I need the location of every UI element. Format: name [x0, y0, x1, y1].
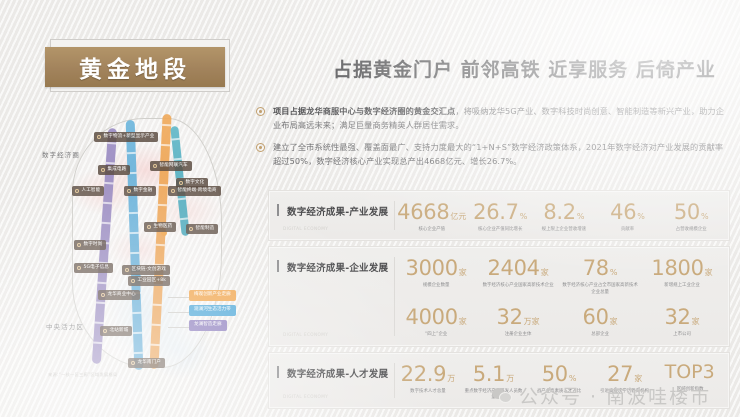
map-tag[interactable]: 5G电子信息 — [74, 263, 113, 273]
stat-unit: 家 — [692, 317, 700, 326]
stat-unit: % — [520, 212, 528, 221]
stat-caption: 新增规上工业企业 — [664, 283, 700, 289]
stat-item: 1800家 新增规上工业企业 — [641, 255, 723, 289]
map-chip-corridor-2[interactable]: 观澜河生态活力带 — [189, 305, 236, 316]
stat-caption: 规上限上企业营收增速 — [542, 227, 586, 233]
chip-leader-line — [168, 297, 190, 298]
map-tag[interactable]: 龙华南门户 — [128, 358, 165, 368]
stat-item: 8.2% 规上限上企业营收增速 — [532, 199, 596, 233]
map-tag-label: 数字文化 — [186, 181, 205, 186]
stat-unit: 家 — [459, 268, 467, 277]
panel-title: 数字经济成果-产业发展 — [281, 204, 388, 218]
stat-unit: 万 — [447, 374, 455, 383]
panel-title: 数字经济成果-人才发展 — [281, 366, 388, 380]
map-tag-label: 龙华商业中心 — [108, 293, 136, 298]
map-tag-dot-icon — [101, 168, 105, 172]
chip-leader-line — [168, 327, 190, 328]
stat-unit: % — [610, 268, 618, 277]
stat-value: 2404家 — [487, 257, 548, 279]
stat-item: 26.7% 核心企业产值同比增长 — [468, 199, 532, 233]
stat-caption: 注册企业主体 — [505, 332, 532, 338]
map-tag[interactable]: 数字物流+新型显示产业 — [94, 132, 158, 142]
stat-value: 22.9万 — [401, 363, 456, 385]
map-tag-label: 人工智能 — [82, 189, 101, 194]
map-tag-label: 集成电路 — [108, 168, 127, 173]
stat-caption: 数字技术人才总量 — [410, 389, 446, 395]
panel-ghost-text: DIGITAL ECONOMY — [283, 394, 328, 399]
map-chip-corridor-3[interactable]: 龙澜智造走廊 — [189, 320, 227, 331]
bullet-item: 建立了全市系统性最强、覆盖面最广、支持力度最大的“1+N+S”数字经济政策体系，… — [256, 140, 726, 168]
map-tag-dot-icon — [75, 189, 79, 193]
bullet-text: 建立了全市系统性最强、覆盖面最广、支持力度最大的“1+N+S”数字经济政策体系，… — [273, 140, 726, 168]
map-tag-label: 区块链·文创游戏 — [132, 268, 166, 273]
panel-accent-bar — [277, 366, 279, 378]
map-area-label-central-vitality: 中央活力区 — [46, 322, 84, 331]
stat-unit: % — [701, 212, 709, 221]
panel-title: 数字经济成果-企业发展 — [281, 260, 388, 274]
map-chip-label: 观澜河生态活力带 — [194, 307, 231, 312]
map-area-label-digital-economy: 数字经济圈 — [42, 150, 80, 159]
stat-value: 3000家 — [406, 257, 467, 279]
bullet-lead: 项目占据龙华商服中心与数字经济圈的黄金交汇点 — [273, 106, 455, 116]
map-tag-dot-icon — [131, 279, 135, 283]
stat-value: 60家 — [583, 306, 618, 328]
stat-value: TOP3 — [665, 363, 716, 383]
panel-ghost-text: DIGITAL ECONOMY — [283, 226, 328, 231]
stat-item: 50% 占营收规模企业 — [659, 199, 723, 233]
stat-caption: 规模企业数量 — [423, 283, 450, 289]
map-tag-label: 数字物流+新型显示产业 — [104, 135, 155, 140]
panel-stats: 3000家 规模企业数量 2404家 数字经济核心产业国家高新技术企业 78% … — [395, 247, 729, 345]
stat-value: 46% — [610, 201, 645, 223]
map-tag[interactable]: 生物医药 — [144, 222, 176, 232]
wechat-icon — [492, 387, 513, 404]
stat-item: 4000家 “四上”企业 — [395, 304, 477, 338]
stat-caption: “四上”企业 — [425, 332, 447, 338]
map-tag-label: 北站新城 — [110, 329, 129, 334]
map-tag-dot-icon — [189, 227, 193, 231]
stat-panel-list: 数字经济成果-产业发展 DIGITAL ECONOMY 4668亿元 核心企业产… — [268, 190, 730, 414]
stat-unit: 家 — [705, 268, 713, 277]
stat-number: 1800 — [651, 256, 703, 280]
stat-panel-industry: 数字经济成果-产业发展 DIGITAL ECONOMY 4668亿元 核心企业产… — [268, 190, 730, 241]
map-tag[interactable]: 数字时尚 — [74, 240, 106, 250]
map-tag[interactable]: 北站新城 — [100, 326, 132, 336]
stat-item: 3000家 规模企业数量 — [395, 255, 477, 289]
panel-label-cell: 数字经济成果-企业发展 DIGITAL ECONOMY — [269, 247, 394, 345]
stat-number: 22.9 — [401, 362, 447, 386]
page-headline: 占据黄金门户 前邻高铁 近享服务 后倚产业 — [333, 55, 716, 82]
map-tag[interactable]: 工业园区+8k — [128, 276, 170, 286]
map-tag-dot-icon — [77, 243, 81, 247]
stat-number: 46 — [610, 200, 636, 224]
slide-root: 黄金地段 占据黄金门户 前邻高铁 近享服务 后倚产业 项目占据龙华商服中心与数字… — [0, 0, 740, 417]
bullet-rest: 建立了全市系统性最强、覆盖面最广、支持力度最大的“1+N+S”数字经济政策体系，… — [273, 142, 723, 166]
stat-item: 60家 总部企业 — [559, 304, 641, 338]
map-tag-dot-icon — [171, 189, 175, 193]
bullet-list: 项目占据龙华商服中心与数字经济圈的黄金交汇点，将吸纳龙华5G产业、数字科技时尚创… — [256, 104, 726, 176]
map-tag-dot-icon — [97, 135, 101, 139]
stat-number: 50 — [674, 200, 700, 224]
stat-caption: 贡献率 — [621, 227, 634, 233]
stat-row: 3000家 规模企业数量 2404家 数字经济核心产业国家高新技术企业 78% … — [395, 255, 723, 296]
watermark: 公众号 · 南波哇楼市 — [492, 382, 711, 409]
map-tag[interactable]: 智能制造 — [186, 224, 218, 234]
stat-number: 32 — [664, 305, 690, 329]
district-map: 数字物流+新型显示产业 集成电路 智能网联汽车 数字文化 人工智能 数字金融 智… — [28, 100, 260, 390]
stat-item: 22.9万 数字技术人才总量 — [395, 361, 461, 395]
stat-number: 32 — [497, 305, 523, 329]
title-badge-text: 黄金地段 — [79, 50, 191, 84]
stat-value: 32家 — [664, 306, 699, 328]
stat-unit: 亿元 — [450, 212, 466, 221]
stat-unit: % — [577, 212, 585, 221]
panel-label-cell: 数字经济成果-产业发展 DIGITAL ECONOMY — [269, 191, 394, 240]
map-tag-label: 工业园区+8k — [138, 279, 167, 284]
map-tag[interactable]: 人工智能 — [72, 186, 104, 196]
stat-value: 50% — [674, 201, 709, 223]
map-tag-dot-icon — [147, 225, 151, 229]
stat-number: 4668 — [397, 200, 449, 224]
panel-accent-bar — [277, 260, 279, 272]
map-tag-dot-icon — [101, 293, 105, 297]
stat-number: 8.2 — [543, 200, 576, 224]
map-tag-label: 龙华南门户 — [138, 361, 161, 366]
stat-caption: 核心企业产值 — [418, 227, 445, 233]
stat-row: 4668亿元 核心企业产值 26.7% 核心企业产值同比增长 8.2% 规上限上… — [395, 199, 723, 233]
bullet-item: 项目占据龙华商服中心与数字经济圈的黄金交汇点，将吸纳龙华5G产业、数字科技时尚创… — [256, 104, 726, 132]
map-tag[interactable]: 龙华商业中心 — [98, 290, 140, 300]
map-tag-dot-icon — [125, 268, 129, 272]
stat-value: 78% — [583, 257, 618, 279]
stat-value: 32万家 — [497, 306, 540, 328]
stat-caption: 总部企业 — [591, 332, 609, 338]
bullet-text: 项目占据龙华商服中心与数字经济圈的黄金交汇点，将吸纳龙华5G产业、数字科技时尚创… — [273, 104, 726, 132]
stat-number: 60 — [583, 305, 609, 329]
map-tag-label: 智能网联汽车 — [160, 164, 188, 169]
map-source-caption: 来源:“一核一区三廊”区域发展格局 — [48, 372, 117, 378]
map-tag-dot-icon — [131, 361, 135, 365]
stat-panel-enterprise: 数字经济成果-企业发展 DIGITAL ECONOMY 3000家 规模企业数量… — [268, 246, 730, 346]
map-tag-label: 5G电子信息 — [84, 266, 109, 271]
map-tag-dot-icon — [103, 329, 107, 333]
map-tag[interactable]: 智能网联汽车 — [150, 161, 192, 171]
panel-stats: 4668亿元 核心企业产值 26.7% 核心企业产值同比增长 8.2% 规上限上… — [395, 191, 729, 240]
stat-caption: 占营收规模企业 — [676, 227, 707, 233]
stat-item: 32家 上市公司 — [641, 304, 723, 338]
map-tag-dot-icon — [179, 181, 183, 185]
stat-value: 8.2% — [543, 201, 584, 223]
stat-item: 78% 数字经济核心产业占全市国家高新技术企业总量 — [559, 255, 641, 296]
map-tag-label: 数字时尚 — [84, 243, 103, 248]
map-tag-dot-icon — [127, 189, 131, 193]
stat-item: 2404家 数字经济核心产业国家高新技术企业 — [477, 255, 559, 289]
panel-accent-bar — [277, 204, 279, 216]
chip-leader-line — [168, 312, 190, 313]
stat-value: 4000家 — [406, 306, 467, 328]
stat-item: 32万家 注册企业主体 — [477, 304, 559, 338]
stat-caption: 数字经济核心产业占全市国家高新技术企业总量 — [561, 283, 639, 296]
stat-number: 2404 — [487, 256, 539, 280]
title-badge: 黄金地段 — [45, 47, 225, 87]
map-tag-label: 生物医药 — [154, 225, 173, 230]
stat-number: 26.7 — [473, 200, 519, 224]
map-tag-label: 数字金融 — [134, 189, 153, 194]
map-tag-label: 智能终端·跨境电商 — [178, 189, 217, 194]
map-tag[interactable]: 集成电路 — [98, 165, 130, 175]
stat-item: 46% 贡献率 — [596, 199, 660, 233]
stat-unit: 家 — [459, 317, 467, 326]
stat-caption: 核心企业产值同比增长 — [478, 227, 522, 233]
stat-value: 26.7% — [473, 201, 527, 223]
map-tag[interactable]: 区块链·文创游戏 — [122, 265, 170, 275]
stat-caption: 上市公司 — [673, 332, 691, 338]
stat-unit: 家 — [541, 268, 549, 277]
watermark-text: 公众号 · 南波哇楼市 — [519, 382, 711, 409]
stat-unit: 万家 — [524, 317, 540, 326]
stat-caption: 数字经济核心产业国家高新技术企业 — [483, 283, 554, 289]
stat-number: 78 — [583, 256, 609, 280]
panel-label-cell: 数字经济成果-人才发展 DIGITAL ECONOMY — [269, 353, 394, 409]
stat-number: 4000 — [406, 305, 458, 329]
stat-value: 4668亿元 — [397, 201, 466, 223]
stat-row: 4000家 “四上”企业 32万家 注册企业主体 60家 总部企业 32家 上市… — [395, 304, 723, 338]
map-tag[interactable]: 数字金融 — [124, 186, 156, 196]
stat-unit: % — [637, 212, 645, 221]
stat-value: 1800家 — [651, 257, 712, 279]
stat-unit: 家 — [610, 317, 618, 326]
title-badge-frame: 黄金地段 — [50, 39, 230, 92]
stat-item: 4668亿元 核心企业产值 — [395, 199, 468, 233]
stat-number: 3000 — [406, 256, 458, 280]
map-chip-corridor-1[interactable]: 梅观创新产业走廊 — [189, 290, 236, 301]
map-chip-label: 龙澜智造走廊 — [194, 322, 222, 327]
map-chip-label: 梅观创新产业走廊 — [194, 292, 231, 297]
map-tag[interactable]: 智能终端·跨境电商 — [168, 186, 221, 196]
map-tag-label: 智能制造 — [196, 227, 215, 232]
stat-number: TOP3 — [665, 361, 715, 383]
map-tag-dot-icon — [77, 266, 81, 270]
panel-ghost-text: DIGITAL ECONOMY — [283, 332, 328, 337]
map-tag-dot-icon — [153, 164, 157, 168]
